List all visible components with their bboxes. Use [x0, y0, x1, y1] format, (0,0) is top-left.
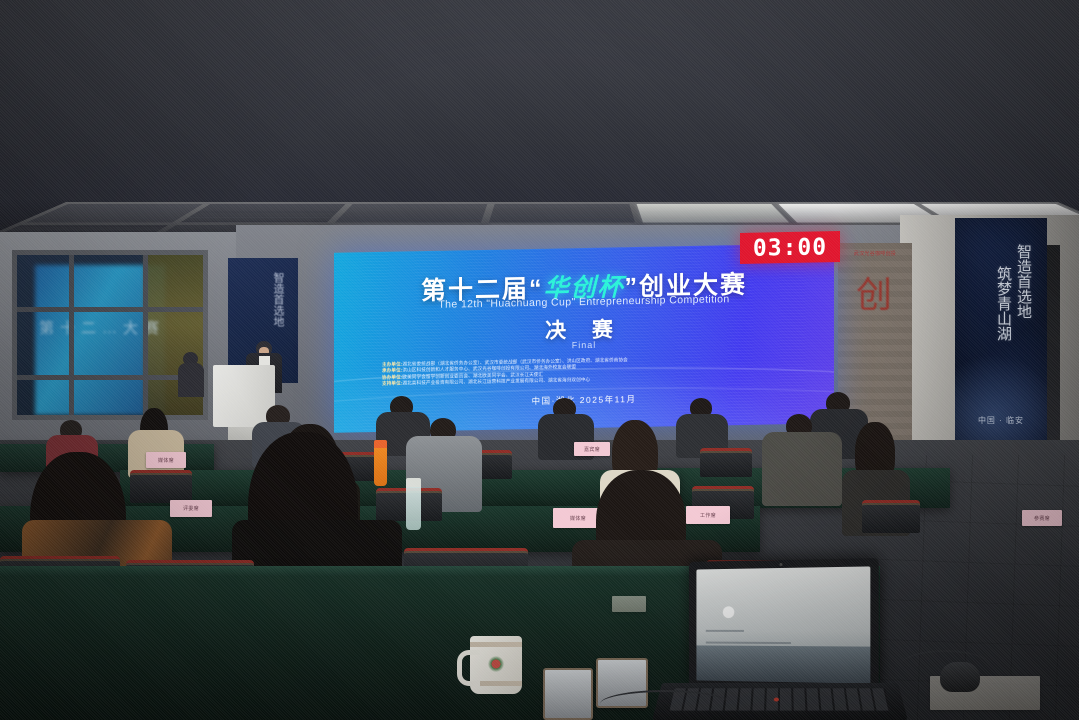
- credit-text: 湖北省委统战部（湖北省侨务办公室）、武汉市委统战部（武汉市侨务办公室）、洪山区政…: [402, 357, 627, 366]
- credit-label: 支持单位:: [382, 381, 402, 386]
- tea-mug[interactable]: [470, 636, 522, 694]
- cable: [900, 650, 990, 682]
- laptop-webcam-icon: [780, 563, 783, 566]
- window-mullion: [143, 255, 148, 415]
- credit-label: 主办单位:: [382, 361, 402, 366]
- side-attendee-body: [178, 363, 204, 397]
- phone[interactable]: [543, 668, 593, 720]
- conference-hall-photo: 第十二…大赛 武汉光谷咖啡创投 创 智造首选地 筑梦青山湖 中国 · 临安 智造…: [0, 0, 1079, 720]
- name-card: 媒体席: [146, 452, 186, 468]
- credit-row: 主办单位:湖北省委统战部（湖北省侨务办公室）、武汉市委统战部（武汉市侨务办公室）…: [382, 354, 786, 368]
- name-card: 工作席: [686, 506, 730, 524]
- juice-bottle[interactable]: [374, 440, 387, 486]
- water-bottle[interactable]: [406, 478, 421, 530]
- chair[interactable]: [130, 470, 192, 503]
- screen-credits-block: 主办单位:湖北省委统战部（湖北省侨务办公室）、武汉市委统战部（武汉市侨务办公室）…: [382, 354, 786, 387]
- window-mullion: [17, 307, 203, 312]
- chair[interactable]: [862, 500, 920, 533]
- screen-stage-label-en: Final: [334, 335, 834, 355]
- trackpoint-nub[interactable]: [774, 698, 779, 702]
- name-card-text: 媒体席: [570, 515, 586, 522]
- credit-row: 支持单位:湖北高科技产业投资有限公司、湖北长江运营科技产业发展有限公司、湖北省海…: [382, 373, 786, 387]
- name-card-text: 工作席: [700, 512, 716, 519]
- name-card: 参赛席: [1022, 510, 1062, 526]
- screen-title-quote-close: ”: [625, 273, 640, 301]
- screen-title-prefix: 第十二届: [421, 275, 529, 305]
- name-card-text: 评委席: [183, 505, 199, 512]
- name-card-text: 媒体席: [158, 457, 174, 464]
- banner-right: 智造首选地 筑梦青山湖 中国 · 临安: [955, 218, 1047, 440]
- cable: [600, 690, 730, 718]
- screen-title-highlight: 华创杯: [543, 273, 624, 303]
- credit-label: 承办单位:: [382, 368, 402, 373]
- banner-right-line1: 智造首选地: [1014, 244, 1031, 319]
- ceiling: [0, 0, 1079, 250]
- paper-sheet: [612, 596, 646, 612]
- credit-text: 洪山区科技创新和人才服务中心、武汉光谷咖啡创投有限公司、湖北海外校友会联盟: [402, 365, 576, 373]
- credit-text: 欧美同学会留学创新创业委员会、湖北欧美同学会、武汉长江天使汇: [402, 372, 543, 380]
- chuang-logo-icon: 创: [850, 273, 898, 317]
- screen-subtitle-english: The 12th "Huachuang Cup" Entrepreneurshi…: [334, 291, 834, 313]
- wall-logo-caption: 武汉光谷咖啡创投: [845, 250, 905, 257]
- mug-handle: [457, 650, 480, 686]
- laptop-lid[interactable]: [689, 558, 879, 690]
- credit-label: 协办单位:: [382, 374, 402, 379]
- chair[interactable]: [700, 448, 752, 477]
- banner-right-line2: 筑梦青山湖: [994, 266, 1011, 341]
- credit-row: 承办单位:洪山区科技创新和人才服务中心、武汉光谷咖啡创投有限公司、湖北海外校友会…: [382, 361, 786, 375]
- laptop-screen[interactable]: [696, 566, 870, 683]
- screen-title: 第十二届“华创杯”创业大赛: [334, 263, 834, 309]
- screen-title-quote-open: “: [529, 275, 544, 303]
- banner-left-line1: 智造首选地: [271, 272, 284, 327]
- banner-right-footer: 中国 · 临安: [955, 415, 1047, 426]
- credit-row: 协办单位:欧美同学会留学创新创业委员会、湖北欧美同学会、武汉长江天使汇: [382, 367, 786, 381]
- screen-stage-label-cn: 决 赛: [334, 309, 834, 349]
- name-card: 评委席: [170, 500, 212, 517]
- name-card-text: 嘉宾席: [584, 446, 600, 453]
- window-mullion: [17, 375, 203, 380]
- window-mullion: [69, 255, 74, 415]
- countdown-timer-value: 03:00: [753, 234, 827, 261]
- name-card-text: 参赛席: [1034, 515, 1050, 522]
- credit-text: 湖北高科技产业投资有限公司、湖北长江运营科技产业发展有限公司、湖北省海归双创中心: [402, 377, 590, 386]
- screen-title-suffix: 创业大赛: [639, 271, 747, 301]
- name-card: 嘉宾席: [574, 442, 610, 456]
- countdown-timer: 03:00: [740, 231, 840, 264]
- banner-right-gradient: [955, 350, 1047, 440]
- mug-emblem-icon: [488, 656, 504, 672]
